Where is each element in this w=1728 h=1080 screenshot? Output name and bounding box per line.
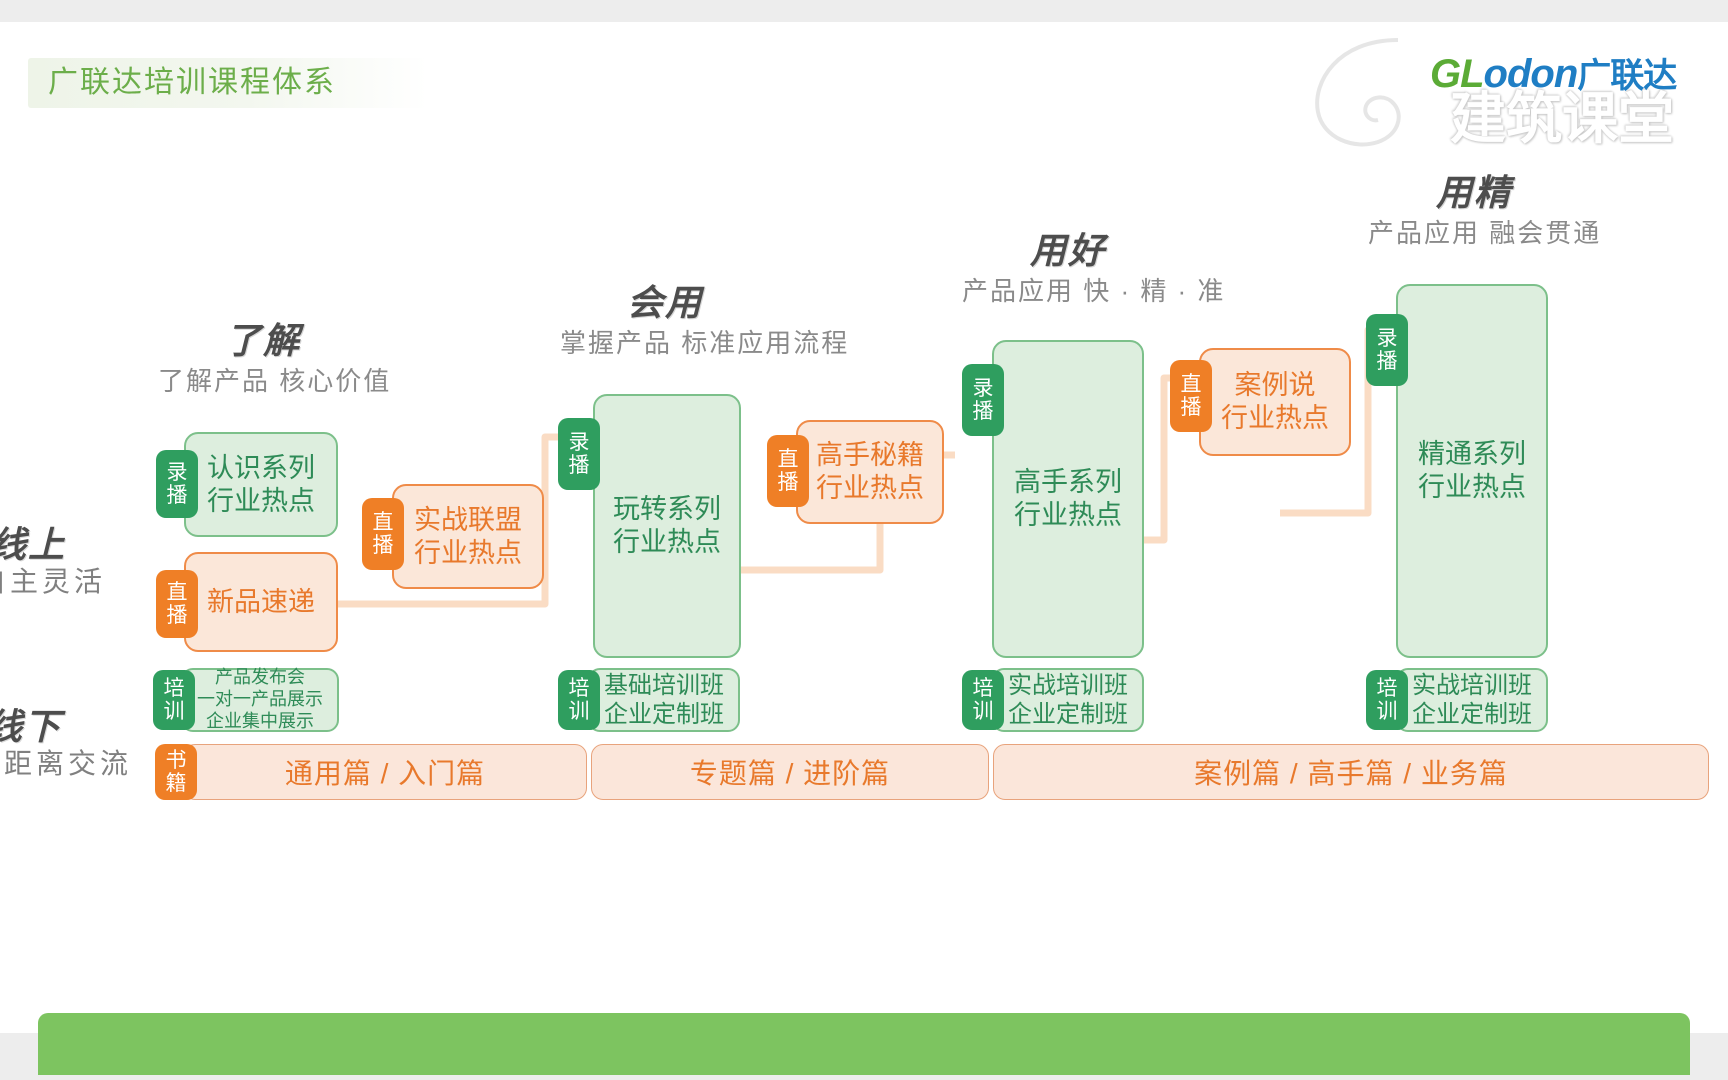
stage-2-offline-tab[interactable]: 培训 (558, 670, 600, 730)
stage-1-card-1[interactable]: 认识系列 行业热点 (184, 432, 338, 537)
stage-1-card-3-tab-label: 直播 (371, 511, 395, 557)
stage-1-offline-card[interactable]: 产品发布会 一对一产品展示 企业集中展示 (181, 668, 339, 732)
stage-3-card-2-tab-label: 直播 (1179, 373, 1203, 419)
stage-1-heading: 了解 了解产品 核心价值 (158, 318, 368, 398)
stage-3-card-2[interactable]: 案例说 行业热点 (1199, 348, 1351, 456)
stage-1-card-3[interactable]: 实战联盟 行业热点 (392, 484, 544, 589)
stage-1-card-3-tab[interactable]: 直播 (362, 498, 404, 570)
stage-3-book-label: 案例篇 / 高手篇 / 业务篇 (1194, 752, 1508, 792)
bottom-green-band (38, 1013, 1690, 1075)
stage-2-card-2-tab-label: 直播 (776, 448, 800, 494)
stage-3-title: 用好 (962, 228, 1174, 274)
stage-3-book-bar[interactable]: 案例篇 / 高手篇 / 业务篇 (993, 744, 1709, 800)
stage-3-card-1-tab[interactable]: 录播 (962, 364, 1004, 436)
stage-1-card-1-label: 认识系列 行业热点 (207, 452, 315, 518)
stage-1-card-2-tab-label: 直播 (165, 581, 189, 627)
stage-2-card-1-label: 玩转系列 行业热点 (613, 493, 721, 559)
stage-2-card-1[interactable]: 玩转系列 行业热点 (593, 394, 741, 658)
stage-1-offline-tab-label: 培训 (162, 677, 186, 723)
stage-4-offline-card[interactable]: 实战培训班 企业定制班 (1396, 668, 1548, 732)
stage-1-card-2[interactable]: 新品速递 (184, 552, 338, 652)
stage-1-card-3-label: 实战联盟 行业热点 (414, 504, 522, 570)
stage-1-book-label: 通用篇 / 入门篇 (285, 752, 485, 792)
stage-2-card-1-tab[interactable]: 录播 (558, 418, 600, 490)
stage-2-subtitle: 掌握产品 标准应用流程 (560, 326, 770, 360)
stage-1-card-1-tab[interactable]: 录播 (156, 450, 198, 518)
stage-2-heading: 会用 掌握产品 标准应用流程 (560, 280, 770, 360)
stage-2-card-2-tab[interactable]: 直播 (767, 435, 809, 507)
stage-4-offline-label: 实战培训班 企业定制班 (1412, 671, 1532, 730)
stage-4-card-1-tab-label: 录播 (1375, 327, 1399, 373)
stage-2-card-2-label: 高手秘籍 行业热点 (816, 439, 924, 505)
stage-3-card-1-tab-label: 录播 (971, 377, 995, 423)
stage-4-card-1-label: 精通系列 行业热点 (1418, 438, 1526, 504)
stage-3-heading: 用好 产品应用 快 · 精 · 准 (962, 228, 1174, 308)
stage-3-card-2-tab[interactable]: 直播 (1170, 360, 1212, 432)
stage-1-card-2-label: 新品速递 (207, 586, 315, 619)
stage-4-offline-tab[interactable]: 培训 (1366, 670, 1408, 730)
stage-3-card-2-label: 案例说 行业热点 (1221, 369, 1329, 435)
stage-3-offline-card[interactable]: 实战培训班 企业定制班 (992, 668, 1144, 732)
stage-3-card-1[interactable]: 高手系列 行业热点 (992, 340, 1144, 658)
stage-2-offline-tab-label: 培训 (567, 677, 591, 723)
stage-1-book-bar[interactable]: 通用篇 / 入门篇 (183, 744, 587, 800)
stage-2-card-1-tab-label: 录播 (567, 431, 591, 477)
stage-1-offline-label: 产品发布会 一对一产品展示 企业集中展示 (197, 667, 323, 733)
stage-2-book-bar[interactable]: 专题篇 / 进阶篇 (591, 744, 989, 800)
stage-1-subtitle: 了解产品 核心价值 (158, 364, 368, 398)
stage-3-offline-tab[interactable]: 培训 (962, 670, 1004, 730)
stage-1-book-tab-label: 书籍 (164, 749, 188, 795)
stage-2-offline-card[interactable]: 基础培训班 企业定制班 (588, 668, 740, 732)
stage-3-offline-label: 实战培训班 企业定制班 (1008, 671, 1128, 730)
stage-4-subtitle: 产品应用 融会贯通 (1368, 216, 1580, 250)
stage-2-card-2[interactable]: 高手秘籍 行业热点 (796, 420, 944, 524)
stage-4-card-1[interactable]: 精通系列 行业热点 (1396, 284, 1548, 658)
stage-1-offline-tab[interactable]: 培训 (153, 670, 195, 730)
stage-1-card-1-tab-label: 录播 (165, 461, 189, 507)
stage-4-heading: 用精 产品应用 融会贯通 (1368, 170, 1580, 250)
stage-1-title: 了解 (158, 318, 368, 364)
stage-2-title: 会用 (560, 280, 770, 326)
stage-3-card-1-label: 高手系列 行业热点 (1014, 466, 1122, 532)
stage-1-card-2-tab[interactable]: 直播 (156, 570, 198, 638)
stage-3-offline-tab-label: 培训 (971, 677, 995, 723)
stage-4-offline-tab-label: 培训 (1375, 677, 1399, 723)
stage-3-subtitle: 产品应用 快 · 精 · 准 (962, 274, 1174, 308)
stage-2-book-label: 专题篇 / 进阶篇 (690, 752, 890, 792)
stage-4-card-1-tab[interactable]: 录播 (1366, 314, 1408, 386)
stage-1-book-tab[interactable]: 书籍 (155, 744, 197, 800)
stage-4-title: 用精 (1368, 170, 1580, 216)
stage-2-offline-label: 基础培训班 企业定制班 (604, 671, 724, 730)
